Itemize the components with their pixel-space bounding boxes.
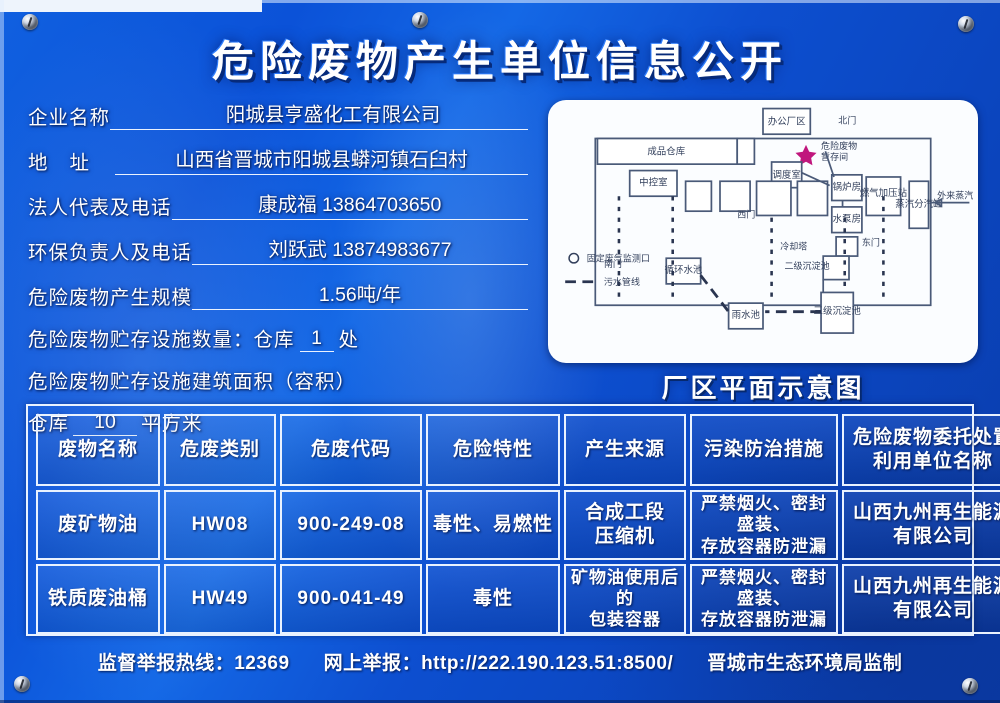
storage-area-label: 危险废物贮存设施建筑面积（容积） <box>28 365 356 394</box>
board-left-edge <box>0 0 4 703</box>
cell-waste-code: 900-041-49 <box>280 564 422 634</box>
diagram-label-boiler: 锅炉房 <box>833 181 861 193</box>
diagram-label-water-pump: 水泵房 <box>833 213 861 225</box>
facility-count-value: 1 <box>300 327 334 352</box>
hazardous-waste-table-container: 废物名称 危废类别 危废代码 危险特性 产生来源 污染防治措施 危险废物委托处置… <box>26 404 974 636</box>
th-entrusted-unit: 危险废物委托处置 利用单位名称 <box>842 414 1000 486</box>
cell-pollution-measures-line2: 存放容器防泄漏 <box>693 536 835 557</box>
th-waste-category: 危废类别 <box>164 414 276 486</box>
board-top-white-strip <box>0 0 262 12</box>
cell-entrusted-unit: 山西九州再生能源 有限公司 <box>842 564 1000 634</box>
scale-value: 1.56吨/年 <box>192 278 528 310</box>
info-row-scale: 危险废物产生规模 1.56吨/年 <box>28 278 528 310</box>
information-board: 危险废物产生单位信息公开 企业名称 阳城县亨盛化工有限公司 地址 山西省晋城市阳… <box>0 0 1000 703</box>
company-value: 阳城县亨盛化工有限公司 <box>110 98 528 130</box>
cell-entrusted-unit: 山西九州再生能源 有限公司 <box>842 490 1000 560</box>
diagram-label-rain-pool: 雨水池 <box>732 309 761 321</box>
info-row-area-label: 危险废物贮存设施建筑面积（容积） <box>28 365 528 394</box>
diagram-legend-outlet: 固定废气监测口 <box>587 252 650 264</box>
footer-authority: 晋城市生态环境局监制 <box>707 648 902 675</box>
env-officer-label: 环保负责人及电话 <box>28 236 192 265</box>
legal-rep-value: 康成福 13864703650 <box>172 188 528 220</box>
cell-waste-name: 铁质废油桶 <box>36 564 160 634</box>
cell-waste-category: HW49 <box>164 564 276 634</box>
company-label: 企业名称 <box>28 101 110 130</box>
scale-label: 危险废物产生规模 <box>28 281 192 310</box>
cell-entrusted-unit-line1: 山西九州再生能源 <box>845 501 1000 525</box>
legal-rep-label: 法人代表及电话 <box>28 191 172 220</box>
env-officer-value: 刘跃武 13874983677 <box>192 233 528 265</box>
cell-generation-source-line2: 压缩机 <box>567 525 683 549</box>
cell-pollution-measures-line1: 严禁烟火、密封盛装、 <box>693 567 835 610</box>
info-row-facility-count: 危险废物贮存设施数量：仓库 1 处 <box>28 323 528 352</box>
cell-generation-source-line1: 矿物油使用后的 <box>567 567 683 610</box>
th-pollution-measures: 污染防治措施 <box>690 414 838 486</box>
diagram-label-west-gate: 西门 <box>737 209 755 221</box>
cell-generation-source: 矿物油使用后的 包装容器 <box>564 564 686 634</box>
company-info-block: 企业名称 阳城县亨盛化工有限公司 地址 山西省晋城市阳城县蟒河镇石臼村 法人代表… <box>28 98 528 449</box>
diagram-label-outside-steam: 外来蒸汽 <box>937 189 973 201</box>
footer-hotline: 监督举报热线：12369 <box>98 648 290 675</box>
facility-count-label: 危险废物贮存设施数量：仓库 <box>28 323 295 352</box>
th-hazard-characteristics: 危险特性 <box>426 414 560 486</box>
cell-generation-source-line2: 包装容器 <box>567 609 683 630</box>
legend-monitor-point-icon <box>569 254 578 263</box>
cell-pollution-measures: 严禁烟火、密封盛装、 存放容器防泄漏 <box>690 490 838 560</box>
cell-waste-name: 废矿物油 <box>36 490 160 560</box>
diagram-legend-sewage: 污水管线 <box>604 276 640 288</box>
diagram-label-finished-warehouse: 成品仓库 <box>647 146 685 158</box>
info-row-env-officer: 环保负责人及电话 刘跃武 13874983677 <box>28 233 528 265</box>
table-row: 铁质废油桶 HW49 900-041-49 毒性 矿物油使用后的 包装容器 严禁… <box>36 564 1000 634</box>
cell-hazard-characteristics: 毒性 <box>426 564 560 634</box>
screw-icon-top-center <box>412 12 428 28</box>
facility-count-unit: 处 <box>339 323 360 352</box>
plant-layout-svg: 办公厂区 北门 成品仓库 危险废物 暂存间 调度室 中控室 <box>548 100 978 363</box>
cell-entrusted-unit-line2: 有限公司 <box>845 599 1000 623</box>
diagram-label-secondary-pool: 二级沉淀池 <box>785 260 830 272</box>
table-header-row: 废物名称 危废类别 危废代码 危险特性 产生来源 污染防治措施 危险废物委托处置… <box>36 414 1000 486</box>
th-generation-source: 产生来源 <box>564 414 686 486</box>
address-value: 山西省晋城市阳城县蟒河镇石臼村 <box>115 143 528 175</box>
info-row-company: 企业名称 阳城县亨盛化工有限公司 <box>28 98 528 130</box>
screw-icon-bottom-right <box>962 678 978 694</box>
cell-entrusted-unit-line2: 有限公司 <box>845 525 1000 549</box>
cell-generation-source: 合成工段 压缩机 <box>564 490 686 560</box>
diagram-label-east-gate: 东门 <box>862 236 880 248</box>
diagram-label-circ-water-pool: 循环水池 <box>665 264 703 276</box>
diagram-label-office: 办公厂区 <box>768 116 806 128</box>
address-label: 地址 <box>28 146 115 175</box>
diagram-label-north-gate: 北门 <box>838 115 856 127</box>
cell-pollution-measures-line2: 存放容器防泄漏 <box>693 609 835 630</box>
table-row: 废矿物油 HW08 900-249-08 毒性、易燃性 合成工段 压缩机 严禁烟… <box>36 490 1000 560</box>
cell-pollution-measures: 严禁烟火、密封盛装、 存放容器防泄漏 <box>690 564 838 634</box>
cell-entrusted-unit-line1: 山西九州再生能源 <box>845 575 1000 599</box>
info-row-legal-rep: 法人代表及电话 康成福 13864703650 <box>28 188 528 220</box>
diagram-label-control-room: 调度室 <box>772 169 800 181</box>
screw-icon-bottom-left <box>14 676 30 692</box>
th-entrusted-unit-line1: 危险废物委托处置 <box>845 426 1000 450</box>
footer-bar: 监督举报热线：12369 网上举报：http://222.190.123.51:… <box>0 648 1000 675</box>
cell-pollution-measures-line1: 严禁烟火、密封盛装、 <box>693 493 835 536</box>
plant-layout-diagram-card: 办公厂区 北门 成品仓库 危险废物 暂存间 调度室 中控室 <box>548 100 978 363</box>
th-entrusted-unit-line2: 利用单位名称 <box>845 450 1000 474</box>
diagram-label-cooling-tower: 冷却塔 <box>780 241 807 253</box>
th-waste-code: 危废代码 <box>280 414 422 486</box>
diagram-caption: 厂区平面示意图 <box>548 368 978 405</box>
hazardous-waste-table: 废物名称 危废类别 危废代码 危险特性 产生来源 污染防治措施 危险废物委托处置… <box>32 410 1000 638</box>
cell-waste-category: HW08 <box>164 490 276 560</box>
info-row-address: 地址 山西省晋城市阳城县蟒河镇石臼村 <box>28 143 528 175</box>
plant-layout-diagram: 办公厂区 北门 成品仓库 危险废物 暂存间 调度室 中控室 <box>548 100 978 363</box>
cell-waste-code: 900-249-08 <box>280 490 422 560</box>
cell-hazard-characteristics: 毒性、易燃性 <box>426 490 560 560</box>
footer-online-report[interactable]: 网上举报：http://222.190.123.51:8500/ <box>324 648 674 675</box>
page-title: 危险废物产生单位信息公开 <box>0 28 1000 89</box>
diagram-label-centre-bldg: 中控室 <box>639 177 667 189</box>
cell-generation-source-line1: 合成工段 <box>567 501 683 525</box>
th-waste-name: 废物名称 <box>36 414 160 486</box>
diagram-label-hazard-store-1: 危险废物 <box>821 140 857 152</box>
